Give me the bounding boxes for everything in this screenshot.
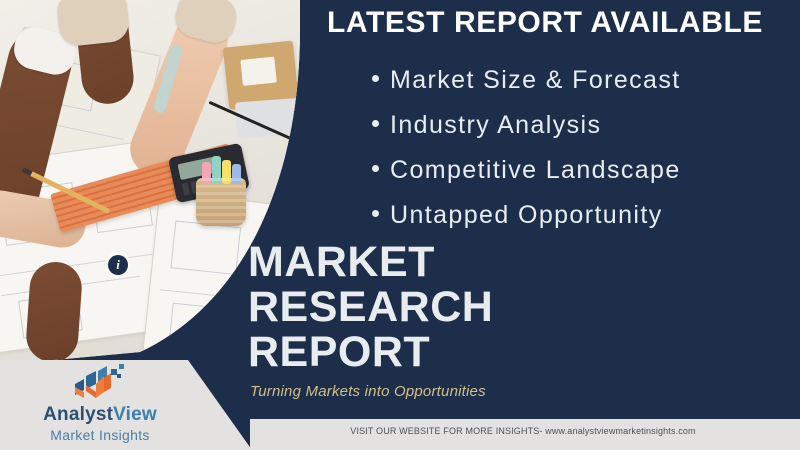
list-item-label: Market Size & Forecast (390, 66, 681, 94)
promo-banner: i LATEST REPORT AVAILABLE Market Size & … (0, 0, 800, 450)
footer-url-text: VISIT OUR WEBSITE FOR MORE INSIGHTS- www… (250, 426, 796, 436)
list-item: Industry Analysis (372, 103, 792, 148)
main-heading-line-1: MARKET (248, 240, 493, 285)
pen-cup (196, 178, 246, 226)
bullet-dot-icon (372, 120, 379, 127)
logo-name: AnalystView (0, 404, 200, 426)
arm (25, 260, 84, 363)
logo-name-part1: Analyst (43, 404, 113, 425)
page-title: LATEST REPORT AVAILABLE (296, 6, 794, 40)
main-heading-line-2: RESEARCH (248, 285, 493, 330)
list-item-label: Competitive Landscape (390, 156, 681, 184)
list-item: Market Size & Forecast (372, 58, 792, 103)
list-item: Competitive Landscape (372, 148, 792, 193)
list-item-label: Untapped Opportunity (390, 201, 663, 229)
brand-logo: AnalystView Market Insights (0, 362, 200, 443)
tagline: Turning Markets into Opportunities (250, 383, 486, 400)
bullet-dot-icon (372, 75, 379, 82)
main-heading-line-3: REPORT (248, 330, 493, 375)
info-icon: i (108, 255, 128, 275)
main-heading: MARKET RESEARCH REPORT (248, 240, 493, 375)
feature-list: Market Size & Forecast Industry Analysis… (372, 58, 792, 238)
logo-subtitle: Market Insights (0, 427, 200, 443)
bullet-dot-icon (372, 210, 379, 217)
bullet-dot-icon (372, 165, 379, 172)
list-item: Untapped Opportunity (372, 193, 792, 238)
logo-name-part2: View (113, 404, 157, 425)
list-item-label: Industry Analysis (390, 111, 601, 139)
bar-chart-logo-icon (71, 362, 129, 402)
